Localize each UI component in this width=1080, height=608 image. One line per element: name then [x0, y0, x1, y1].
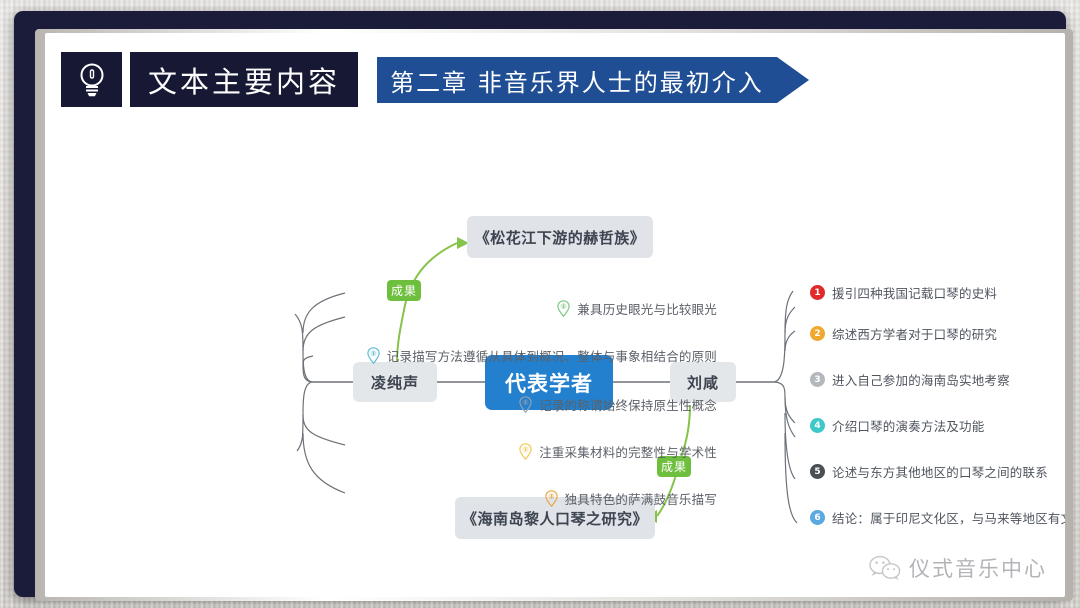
result-book-top-label: 《松花江下游的赫哲族》 — [475, 227, 646, 248]
result-tag-left-label: 成果 — [391, 282, 417, 299]
list-item[interactable]: 记录描写方法遵循从具体到概况、整体与事象相结合的原则 — [367, 346, 717, 365]
list-item[interactable]: 独具特色的萨满鼓音乐描写 — [545, 489, 717, 508]
slide-canvas: 文本主要内容 第二章 非音乐界人士的最初介入 — [45, 33, 1065, 597]
list-item-label: 综述西方学者对于口琴的研究 — [832, 324, 997, 343]
result-book-bottom-label: 《海南岛黎人口琴之研究》 — [462, 508, 648, 529]
list-item[interactable]: 注重采集材料的完整性与学术性 — [519, 442, 717, 461]
list-item-label: 介绍口琴的演奏方法及功能 — [832, 416, 984, 435]
list-item-label: 进入自己参加的海南岛实地考察 — [832, 370, 1010, 389]
number-badge: 3 — [810, 372, 825, 387]
result-tag-left: 成果 — [387, 280, 421, 301]
number-badge: 1 — [810, 285, 825, 300]
list-item-label: 记录描写方法遵循从具体到概况、整体与事象相结合的原则 — [387, 346, 717, 365]
list-item-label: 论述与东方其他地区的口琴之间的联系 — [832, 462, 1048, 481]
node-left-branch[interactable]: 凌纯声 — [353, 362, 437, 402]
list-item[interactable]: 5 论述与东方其他地区的口琴之间的联系 — [810, 462, 1048, 481]
mindmap: 代表学者 凌纯声 刘咸 《松花江下游的赫哲族》 《海南岛黎人口琴之研究》 成果 … — [45, 33, 1065, 597]
list-item-label: 注重采集材料的完整性与学术性 — [539, 442, 717, 461]
list-item[interactable]: 兼具历史眼光与比较眼光 — [557, 299, 717, 318]
list-item[interactable]: 1 援引四种我国记载口琴的史料 — [810, 283, 997, 302]
location-pin-icon — [367, 347, 380, 364]
list-item-label: 记录的称谓始终保持原生性概念 — [539, 395, 717, 414]
watermark-text: 仪式音乐中心 — [909, 553, 1047, 583]
node-center-label: 代表学者 — [505, 368, 593, 398]
list-item[interactable]: 记录的称谓始终保持原生性概念 — [519, 395, 717, 414]
list-item[interactable]: 3 进入自己参加的海南岛实地考察 — [810, 370, 1010, 389]
list-item-label: 兼具历史眼光与比较眼光 — [577, 299, 717, 318]
location-pin-icon — [519, 443, 532, 460]
wechat-icon — [869, 555, 901, 581]
list-item-label: 结论：属于印尼文化区，与马来等地区有文化上的联系 — [832, 508, 1065, 527]
node-result-book-top[interactable]: 《松花江下游的赫哲族》 — [467, 216, 653, 258]
node-right-label: 刘咸 — [687, 372, 719, 393]
number-badge: 6 — [810, 510, 825, 525]
node-left-label: 凌纯声 — [371, 372, 419, 393]
watermark: 仪式音乐中心 — [869, 553, 1047, 583]
list-item[interactable]: 6 结论：属于印尼文化区，与马来等地区有文化上的联系 — [810, 508, 1065, 527]
list-item[interactable]: 4 介绍口琴的演奏方法及功能 — [810, 416, 984, 435]
list-item-label: 援引四种我国记载口琴的史料 — [832, 283, 997, 302]
number-badge: 4 — [810, 418, 825, 433]
number-badge: 5 — [810, 464, 825, 479]
location-pin-icon — [545, 490, 558, 507]
number-badge: 2 — [810, 326, 825, 341]
list-item[interactable]: 2 综述西方学者对于口琴的研究 — [810, 324, 997, 343]
slide-frame: 文本主要内容 第二章 非音乐界人士的最初介入 — [14, 11, 1066, 597]
list-item-label: 独具特色的萨满鼓音乐描写 — [565, 489, 717, 508]
location-pin-icon — [519, 396, 532, 413]
location-pin-icon — [557, 300, 570, 317]
